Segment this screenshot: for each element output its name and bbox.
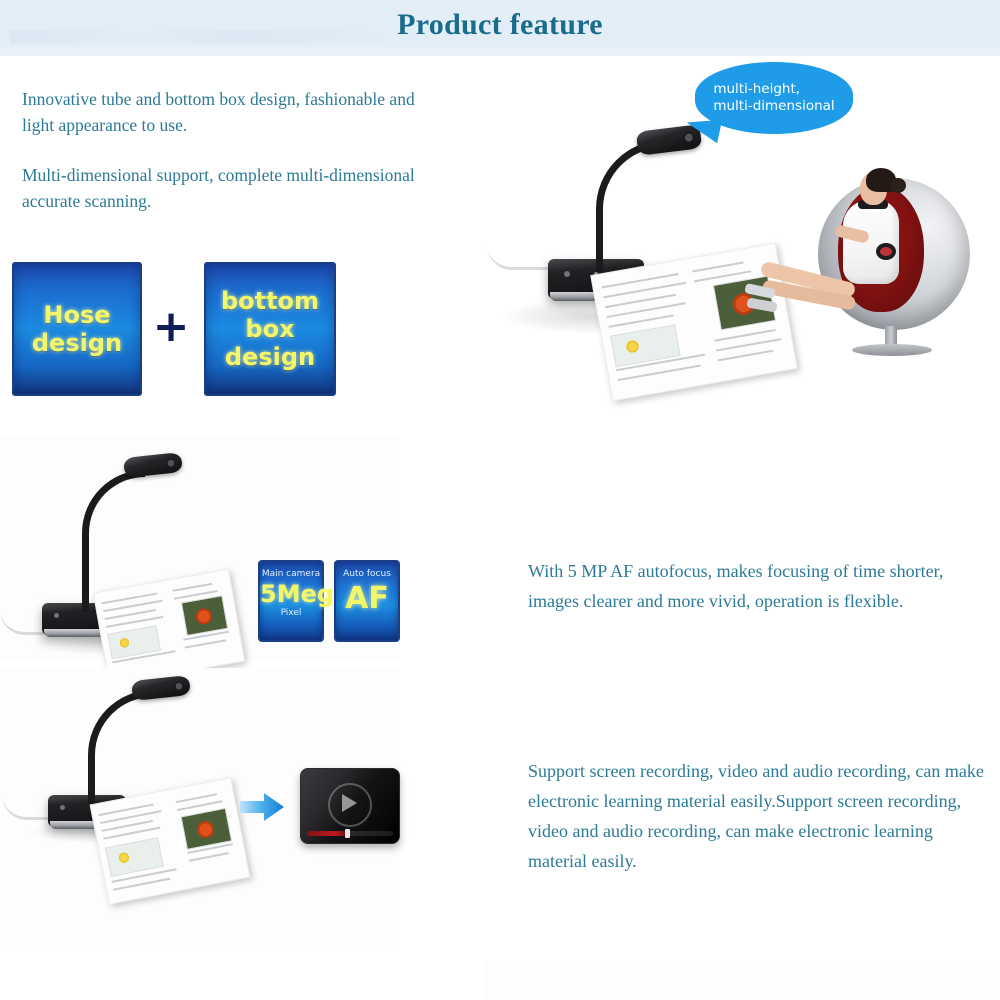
speech-bubble: multi-height, multi-dimensional xyxy=(695,62,853,134)
spec-auto-focus-caption: Auto focus xyxy=(336,569,398,579)
video-progress-bar xyxy=(307,831,393,836)
spec-main-camera-sub: Pixel xyxy=(260,608,322,618)
page-header: Product feature xyxy=(0,0,1000,56)
video-player-preview xyxy=(300,768,400,844)
left-copy-block: Innovative tube and bottom box design, f… xyxy=(22,86,422,214)
ball-chair-base xyxy=(852,344,932,356)
recording-camera-lens-icon xyxy=(173,681,184,692)
recording-copy-block: Support screen recording, video and audi… xyxy=(528,756,990,876)
af-paragraph: With 5 MP AF autofocus, makes focusing o… xyxy=(528,556,968,616)
spec-main-camera-value: 5Mega xyxy=(260,581,322,607)
recording-base-led-icon xyxy=(60,805,65,810)
hose-design-label: Hose design xyxy=(32,301,122,357)
plus-icon: + xyxy=(150,306,192,348)
design-badge-row: Hose design + bottom box design xyxy=(12,262,332,392)
page-title: Product feature xyxy=(0,8,1000,42)
bottom-box-design-badge: bottom box design xyxy=(204,262,336,396)
bottom-box-design-label: bottom box design xyxy=(221,287,319,371)
model-hair-bun xyxy=(890,178,906,193)
model-dress-cutout xyxy=(876,243,896,260)
af-base-led-icon xyxy=(54,613,59,618)
spec-auto-focus-value: AF xyxy=(336,579,398,619)
af-camera-lens-icon xyxy=(165,458,176,469)
right-arrow-icon xyxy=(240,792,284,822)
hero-base-led-icon xyxy=(564,271,570,277)
bottom-right-panel xyxy=(484,962,1000,1000)
hose-design-badge: Hose design xyxy=(12,262,142,396)
left-paragraph-1: Innovative tube and bottom box design, f… xyxy=(22,86,422,138)
model-torso xyxy=(843,200,899,284)
recording-paragraph: Support screen recording, video and audi… xyxy=(528,756,990,876)
speech-bubble-text: multi-height, multi-dimensional xyxy=(713,81,834,115)
video-progress-knob xyxy=(345,829,350,838)
left-paragraph-2: Multi-dimensional support, complete mult… xyxy=(22,162,422,214)
spec-badge-auto-focus: Auto focus AF xyxy=(334,560,400,642)
af-document-rose-photo xyxy=(181,595,228,636)
af-copy-block: With 5 MP AF autofocus, makes focusing o… xyxy=(528,556,968,616)
spec-badge-main-camera: Main camera 5Mega Pixel xyxy=(258,560,324,642)
spec-main-camera-caption: Main camera xyxy=(260,569,322,579)
play-triangle-icon xyxy=(342,794,357,812)
